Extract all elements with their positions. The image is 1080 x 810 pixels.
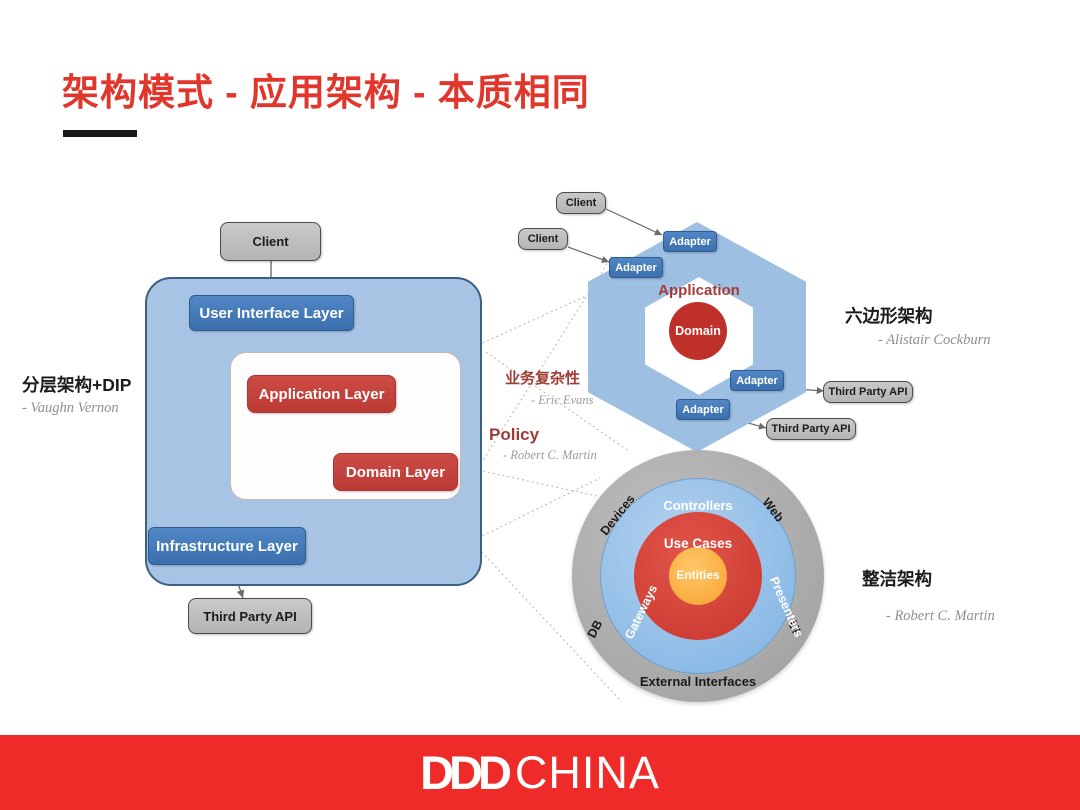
application-layer-label: Application Layer: [259, 386, 385, 403]
hex-adapter-right-box[interactable]: Adapter: [730, 370, 784, 391]
layered-client-label: Client: [252, 234, 288, 249]
footer-logo-text: CHINA: [515, 747, 660, 799]
policy-note-label: Policy: [489, 425, 539, 445]
footer-logo-mark: DDD: [420, 745, 507, 800]
hex-client-left-label: Client: [528, 233, 559, 245]
hex-adapter-left-box[interactable]: Adapter: [609, 257, 663, 278]
diagram-stage: Client User Interface Layer Application …: [0, 0, 1080, 735]
layered-architecture-caption: 分层架构+DIP: [22, 372, 131, 397]
clean-architecture-diagram: Controllers Use Cases Entities External …: [572, 450, 824, 702]
clean-external-interfaces-label: External Interfaces: [572, 674, 824, 689]
clean-use-cases-label: Use Cases: [572, 536, 824, 551]
hexagonal-domain-circle[interactable]: Domain: [669, 302, 727, 360]
complexity-note-author: - Eric Evans: [531, 393, 593, 408]
layered-third-party-api-box[interactable]: Third Party API: [188, 598, 312, 634]
hex-client-left-box[interactable]: Client: [518, 228, 568, 250]
clean-controllers-label: Controllers: [572, 498, 824, 513]
clean-architecture-caption: 整洁架构: [862, 566, 932, 591]
hex-third-party-api-bottom-label: Third Party API: [771, 423, 850, 435]
clean-architecture-author: - Robert C. Martin: [886, 608, 995, 625]
layered-client-box[interactable]: Client: [220, 222, 321, 261]
domain-layer-box[interactable]: Domain Layer: [333, 453, 458, 491]
infrastructure-layer-box[interactable]: Infrastructure Layer: [148, 527, 306, 565]
clean-entities-label: Entities: [572, 568, 824, 582]
hex-adapter-left-label: Adapter: [615, 262, 657, 274]
domain-layer-label: Domain Layer: [346, 464, 445, 481]
user-interface-layer-label: User Interface Layer: [199, 305, 343, 322]
layered-third-party-api-label: Third Party API: [203, 609, 296, 624]
hex-client-top-label: Client: [566, 197, 597, 209]
hex-third-party-api-right-box[interactable]: Third Party API: [823, 381, 913, 403]
application-layer-box[interactable]: Application Layer: [247, 375, 396, 413]
hex-third-party-api-bottom-box[interactable]: Third Party API: [766, 418, 856, 440]
hex-adapter-top-label: Adapter: [669, 236, 711, 248]
footer-logo: DDD CHINA: [0, 735, 1080, 810]
user-interface-layer-box[interactable]: User Interface Layer: [189, 295, 354, 331]
layered-architecture-author: - Vaughn Vernon: [22, 400, 119, 417]
infrastructure-layer-label: Infrastructure Layer: [156, 538, 298, 555]
complexity-note-label: 业务复杂性: [505, 367, 580, 388]
hex-third-party-api-right-label: Third Party API: [828, 386, 907, 398]
hex-client-top-box[interactable]: Client: [556, 192, 606, 214]
hexagonal-architecture-caption: 六边形架构: [845, 303, 933, 328]
hex-adapter-right-label: Adapter: [736, 375, 778, 387]
hex-adapter-bottom-box[interactable]: Adapter: [676, 399, 730, 420]
hexagonal-architecture-author: - Alistair Cockburn: [878, 332, 991, 349]
hex-adapter-top-box[interactable]: Adapter: [663, 231, 717, 252]
hexagonal-application-label: Application: [645, 282, 753, 299]
hex-adapter-bottom-label: Adapter: [682, 404, 724, 416]
hexagonal-domain-label: Domain: [675, 324, 721, 338]
